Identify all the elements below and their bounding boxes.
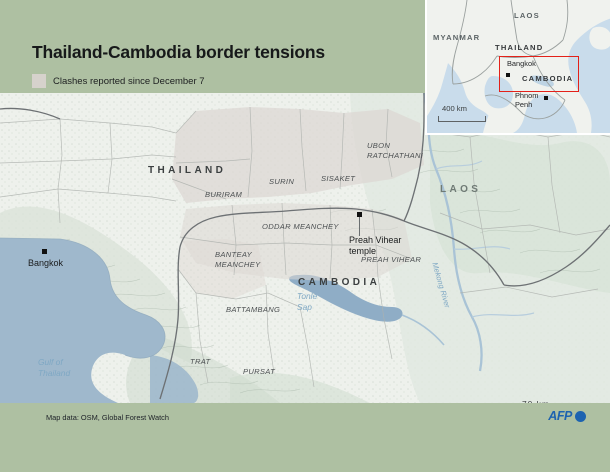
- page-title: Thailand-Cambodia border tensions: [32, 42, 325, 63]
- inset-scalebar: 400 km: [438, 116, 486, 122]
- inset-locator-map[interactable]: MYANMAR LAOS THAILAND CAMBODIA Bangkok P…: [425, 0, 610, 135]
- inset-scalebar-bar: [438, 116, 486, 122]
- afp-logo-text: AFP: [548, 409, 572, 423]
- infographic-map: THAILAND CAMBODIA LAOS BURIRAM SURIN SIS…: [0, 0, 610, 472]
- bangkok-marker: [42, 249, 47, 254]
- main-map[interactable]: THAILAND CAMBODIA LAOS BURIRAM SURIN SIS…: [0, 93, 610, 403]
- legend-swatch: [32, 74, 46, 88]
- map-credit: Map data: OSM, Global Forest Watch: [46, 413, 169, 422]
- afp-logo-dot-icon: [575, 411, 586, 422]
- footer: Map data: OSM, Global Forest Watch AFP: [0, 403, 610, 472]
- legend: Clashes reported since December 7: [32, 74, 205, 88]
- inset-phnom-penh-marker: [544, 96, 548, 100]
- inset-scalebar-label: 400 km: [442, 104, 467, 113]
- afp-logo: AFP: [548, 409, 586, 423]
- legend-label: Clashes reported since December 7: [53, 76, 205, 87]
- preah-vihear-leader-line: [359, 217, 360, 236]
- inset-area-of-interest-box: [499, 56, 579, 92]
